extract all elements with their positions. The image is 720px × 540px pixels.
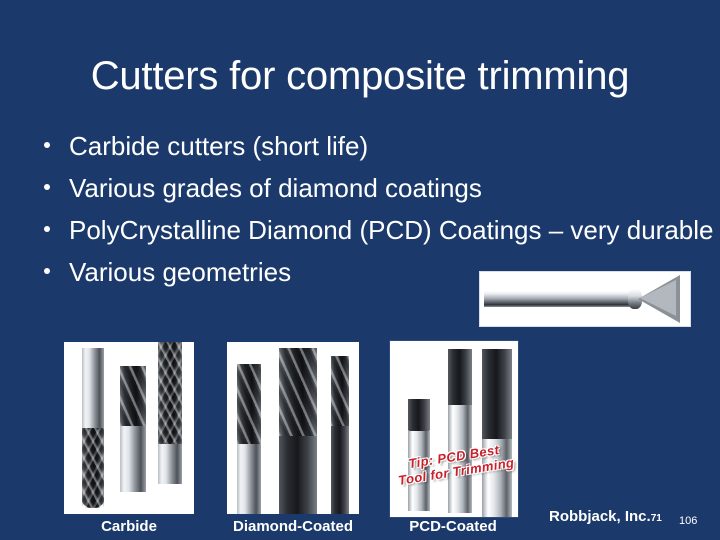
- bullet-dot-icon: [44, 268, 50, 274]
- slide-number: 106: [679, 515, 697, 527]
- bullet-dot-icon: [44, 184, 50, 190]
- dovetail-flare-highlight: [640, 280, 676, 316]
- photo-caption-carbide: Carbide: [64, 518, 194, 535]
- carbide-cutter-1: [82, 348, 104, 508]
- photo-caption-diamond: Diamond-Coated: [227, 518, 359, 535]
- list-item-label: Various grades of diamond coatings: [69, 173, 482, 203]
- pcd-cutter-3: [482, 349, 512, 517]
- dovetail-shank: [484, 291, 636, 307]
- page-title: Cutters for composite trimming: [0, 52, 720, 100]
- carbide-cutters-photo: [64, 342, 194, 514]
- list-item: Carbide cutters (short life): [36, 126, 686, 166]
- list-item-label: PolyCrystalline Diamond (PCD) Coatings –…: [69, 215, 713, 245]
- diamond-cutter-1: [237, 364, 261, 514]
- carbide-cutter-3: [158, 342, 182, 484]
- source-credit-label: Robbjack, Inc.: [549, 508, 651, 525]
- list-item: Various grades of diamond coatings: [36, 168, 686, 208]
- carbide-cutter-2: [120, 366, 146, 492]
- list-item-label: Various geometries: [69, 257, 291, 287]
- dovetail-cutter-photo: [479, 271, 691, 327]
- bullet-list: Carbide cutters (short life) Various gra…: [36, 126, 686, 294]
- source-credit: Robbjack, Inc.71: [549, 508, 662, 525]
- bullet-dot-icon: [44, 226, 50, 232]
- list-item-label: Carbide cutters (short life): [69, 131, 368, 161]
- pcd-cutter-2: [448, 349, 472, 513]
- diamond-coated-cutters-photo: [227, 342, 359, 514]
- diamond-cutter-2: [279, 348, 317, 514]
- pcd-coated-cutters-photo: Tip: PCD Best Tool for Trimming: [389, 340, 519, 518]
- bullet-dot-icon: [44, 142, 50, 148]
- diamond-cutter-3: [331, 356, 349, 514]
- slide: Cutters for composite trimming Carbide c…: [0, 0, 720, 540]
- source-credit-reference: 71: [651, 513, 662, 524]
- list-item: PolyCrystalline Diamond (PCD) Coatings –…: [36, 210, 714, 250]
- photo-caption-pcd: PCD-Coated: [389, 518, 517, 535]
